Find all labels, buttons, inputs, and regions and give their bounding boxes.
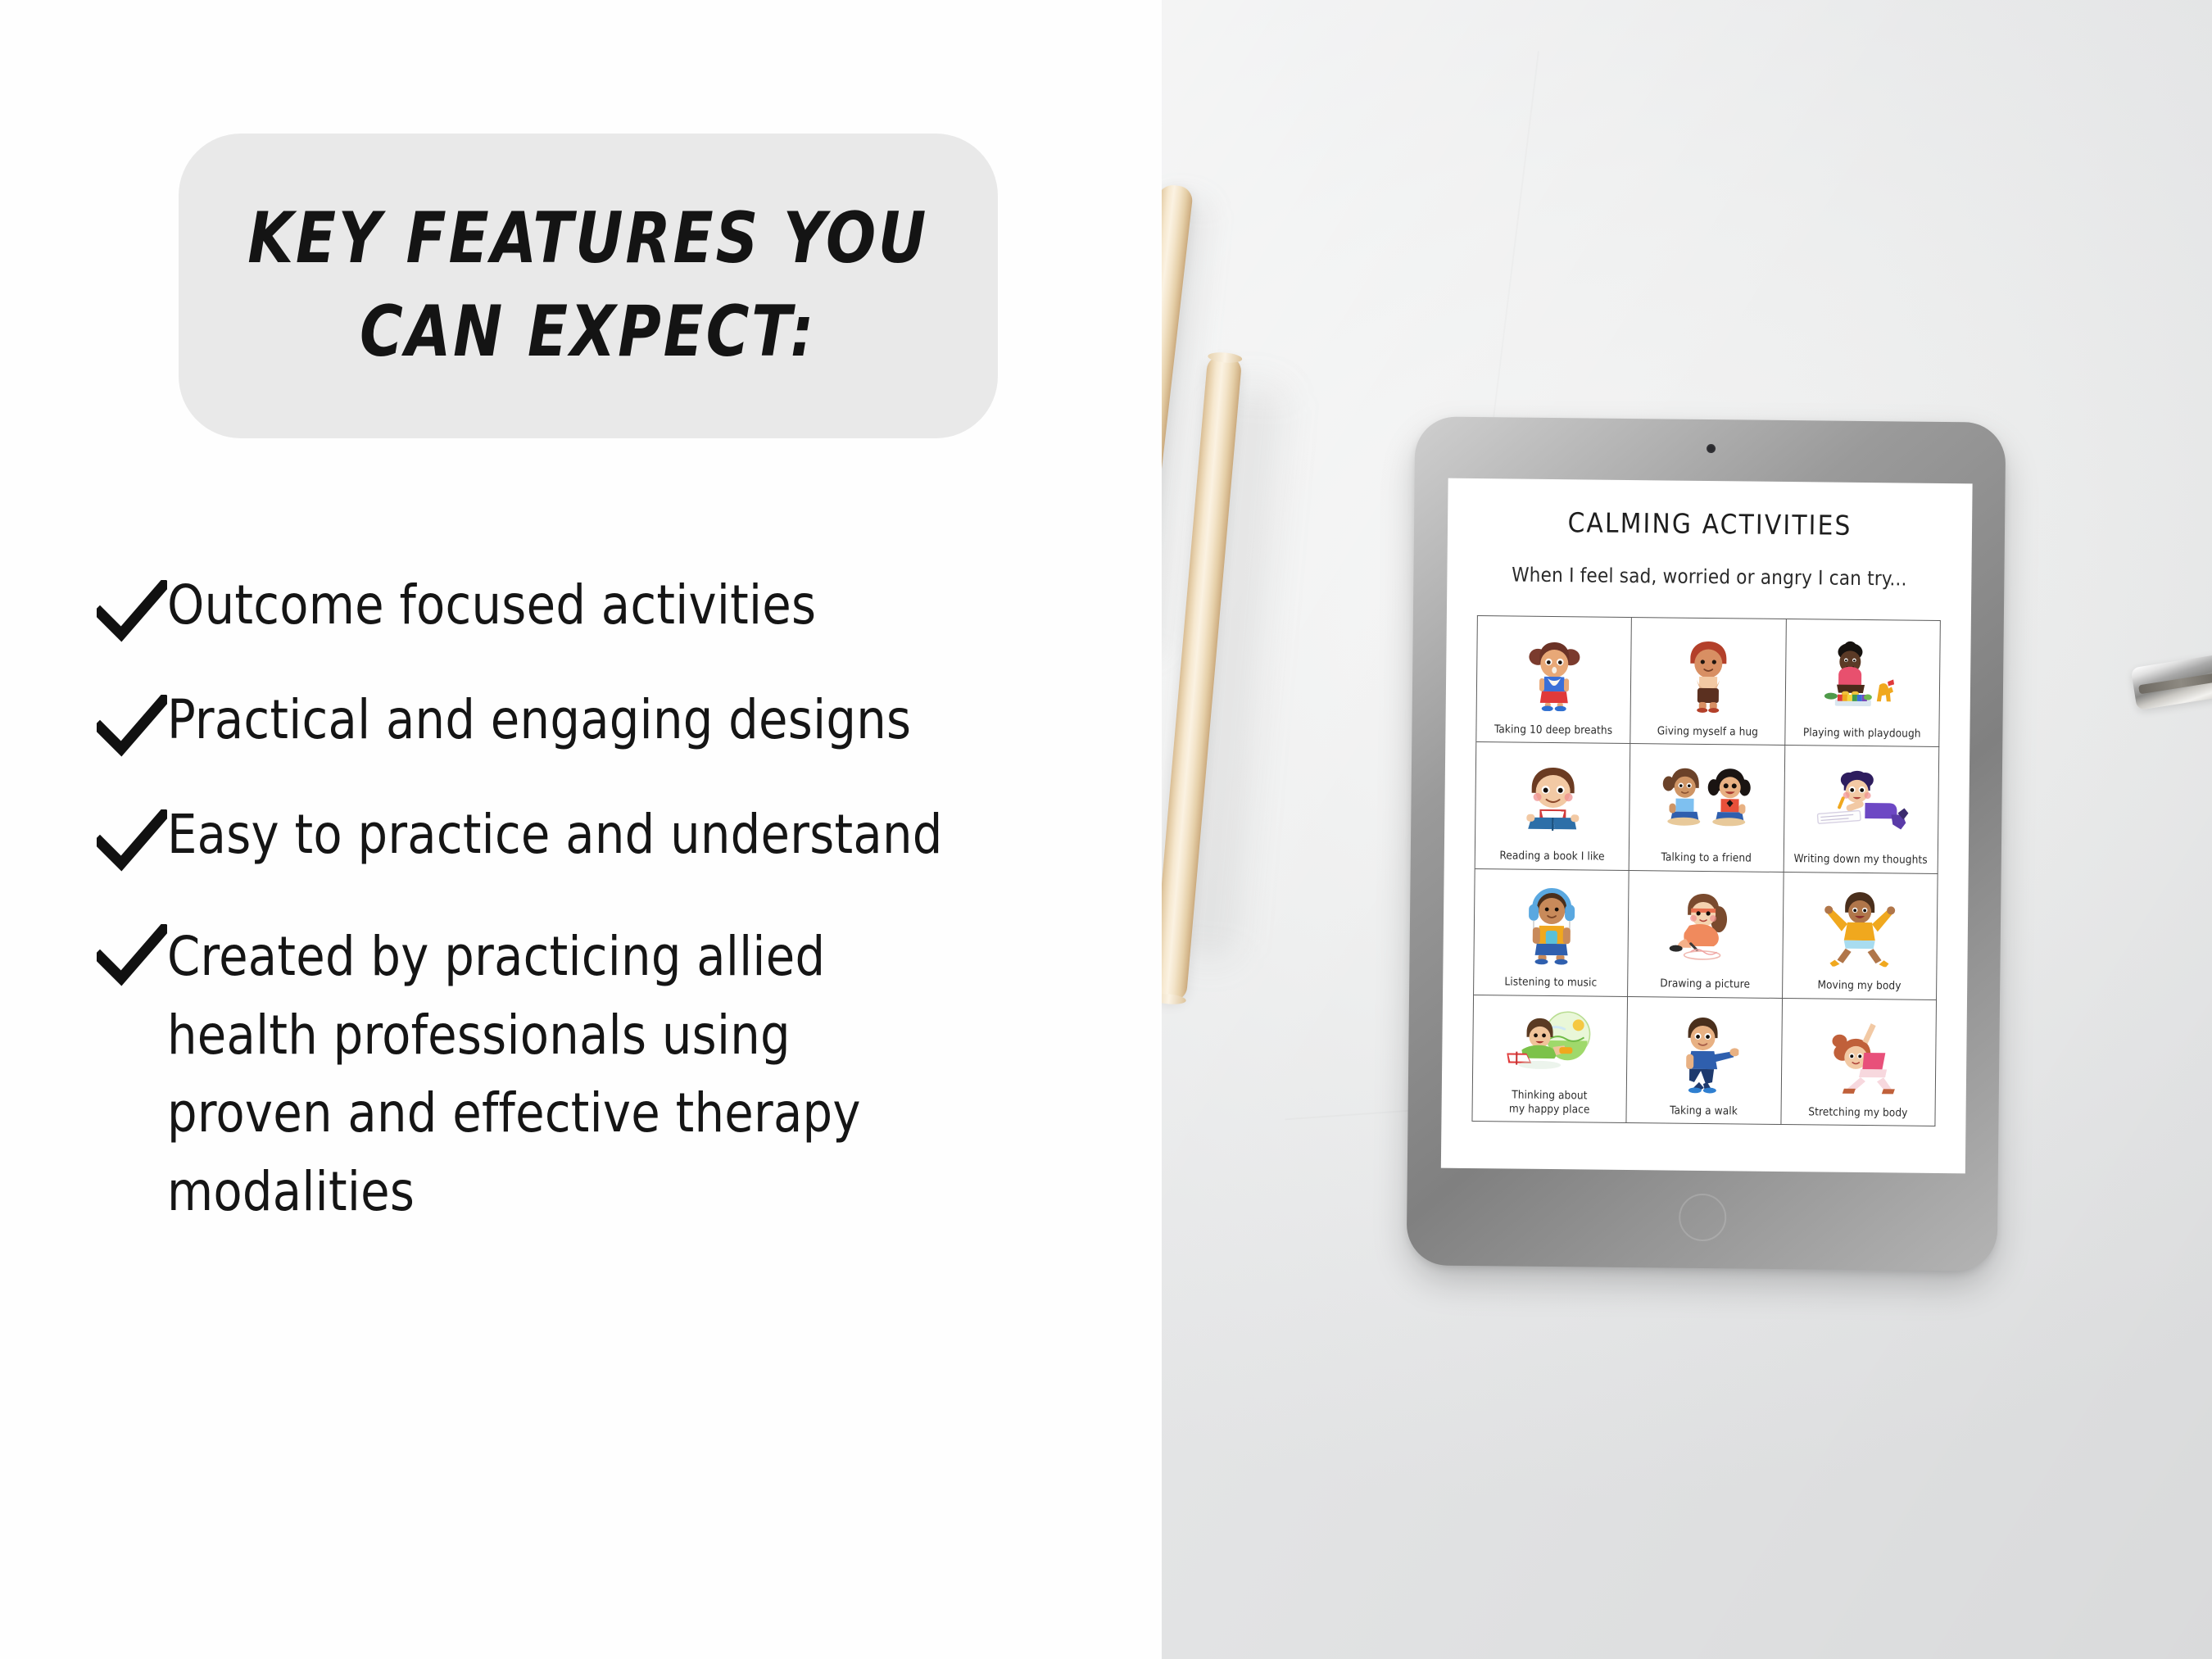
list-item: Created by practicing allied health prof…: [0, 918, 1162, 1231]
list-item: Practical and engaging designs: [0, 688, 1162, 757]
product-photo-panel: CALMING ACTIVITIES When I feel sad, worr…: [1162, 0, 2212, 1659]
headline-line-2: CAN EXPECT:: [360, 286, 816, 379]
activity-cell[interactable]: Giving myself a hug: [1631, 618, 1787, 746]
girl-yoga-stretch-icon: [1784, 1005, 1933, 1107]
activity-cell[interactable]: Moving my body: [1783, 872, 1938, 999]
check-icon: [0, 803, 167, 872]
girl-deep-breathing-icon: [1480, 623, 1629, 724]
activity-cell[interactable]: Playing with playdough: [1785, 619, 1941, 747]
activity-cell[interactable]: Taking 10 deep breaths: [1476, 616, 1632, 744]
boy-daydreaming-icon: [1476, 1002, 1624, 1090]
activity-label: Playing with playdough: [1803, 726, 1921, 741]
boy-reading-book-icon: [1479, 749, 1627, 850]
home-button[interactable]: [1678, 1194, 1726, 1242]
check-icon: [0, 573, 167, 642]
list-item-label: Easy to practice and understand: [167, 803, 943, 867]
activity-label: Taking a walk: [1670, 1104, 1738, 1117]
page-title: CALMING ACTIVITIES: [1448, 505, 1972, 543]
boy-jumping-icon: [1786, 879, 1934, 981]
page-subtitle: When I feel sad, worried or angry I can …: [1447, 563, 1971, 592]
activity-label: Writing down my thoughts: [1793, 852, 1927, 867]
activity-cell[interactable]: Stretching my body: [1781, 999, 1937, 1126]
feature-list: Outcome focused activities Practical and…: [0, 573, 1162, 1231]
list-item: Outcome focused activities: [0, 573, 1162, 642]
boy-headphones-music-icon: [1477, 876, 1625, 977]
activity-cell[interactable]: Taking a walk: [1627, 997, 1783, 1125]
activity-cell[interactable]: Writing down my thoughts: [1784, 746, 1939, 873]
activity-label: Moving my body: [1817, 979, 1901, 994]
tablet-device[interactable]: CALMING ACTIVITIES When I feel sad, worr…: [1409, 419, 2004, 1268]
activity-label: Stretching my body: [1808, 1105, 1907, 1120]
activity-cell[interactable]: Thinking about my happy place: [1472, 995, 1628, 1123]
dowel-cap: [1208, 351, 1243, 365]
activity-cell[interactable]: Talking to a friend: [1630, 744, 1785, 872]
girl-playdough-icon: [1788, 626, 1937, 728]
activity-label: Reading a book I like: [1499, 849, 1604, 863]
girl-drawing-icon: [1632, 877, 1780, 979]
activity-label: Thinking about my happy place: [1509, 1089, 1590, 1117]
boy-walking-icon: [1630, 1004, 1779, 1105]
activity-cell[interactable]: Drawing a picture: [1628, 871, 1784, 999]
headline-pill: KEY FEATURES YOU CAN EXPECT:: [179, 134, 998, 438]
check-icon: [0, 918, 167, 986]
camera-icon: [1706, 444, 1715, 453]
headline-line-1: KEY FEATURES YOU: [248, 193, 929, 286]
dowel-cap: [1162, 993, 1186, 1006]
activity-label: Giving myself a hug: [1657, 724, 1758, 739]
activity-grid: Taking 10 deep breaths: [1471, 615, 1940, 1126]
left-text-panel: KEY FEATURES YOU CAN EXPECT: Outcome foc…: [0, 0, 1162, 1659]
activity-label: Listening to music: [1504, 976, 1597, 990]
activity-label: Taking 10 deep breaths: [1494, 723, 1612, 737]
list-item: Easy to practice and understand: [0, 803, 1162, 872]
list-item-label: Created by practicing allied health prof…: [167, 918, 922, 1231]
check-icon: [0, 688, 167, 757]
activity-label: Talking to a friend: [1661, 850, 1752, 865]
activity-cell[interactable]: Listening to music: [1474, 869, 1630, 997]
tablet-screen[interactable]: CALMING ACTIVITIES When I feel sad, worr…: [1441, 478, 1973, 1174]
list-item-label: Practical and engaging designs: [167, 688, 911, 752]
metal-clip: [2131, 653, 2212, 710]
activity-cell[interactable]: Reading a book I like: [1475, 742, 1631, 870]
boy-self-hug-icon: [1634, 624, 1783, 726]
girl-writing-journal-icon: [1788, 752, 1936, 854]
poster-canvas: KEY FEATURES YOU CAN EXPECT: Outcome foc…: [0, 0, 2212, 1659]
two-kids-talking-icon: [1633, 750, 1781, 852]
list-item-label: Outcome focused activities: [167, 573, 816, 637]
activity-label: Drawing a picture: [1660, 977, 1750, 992]
